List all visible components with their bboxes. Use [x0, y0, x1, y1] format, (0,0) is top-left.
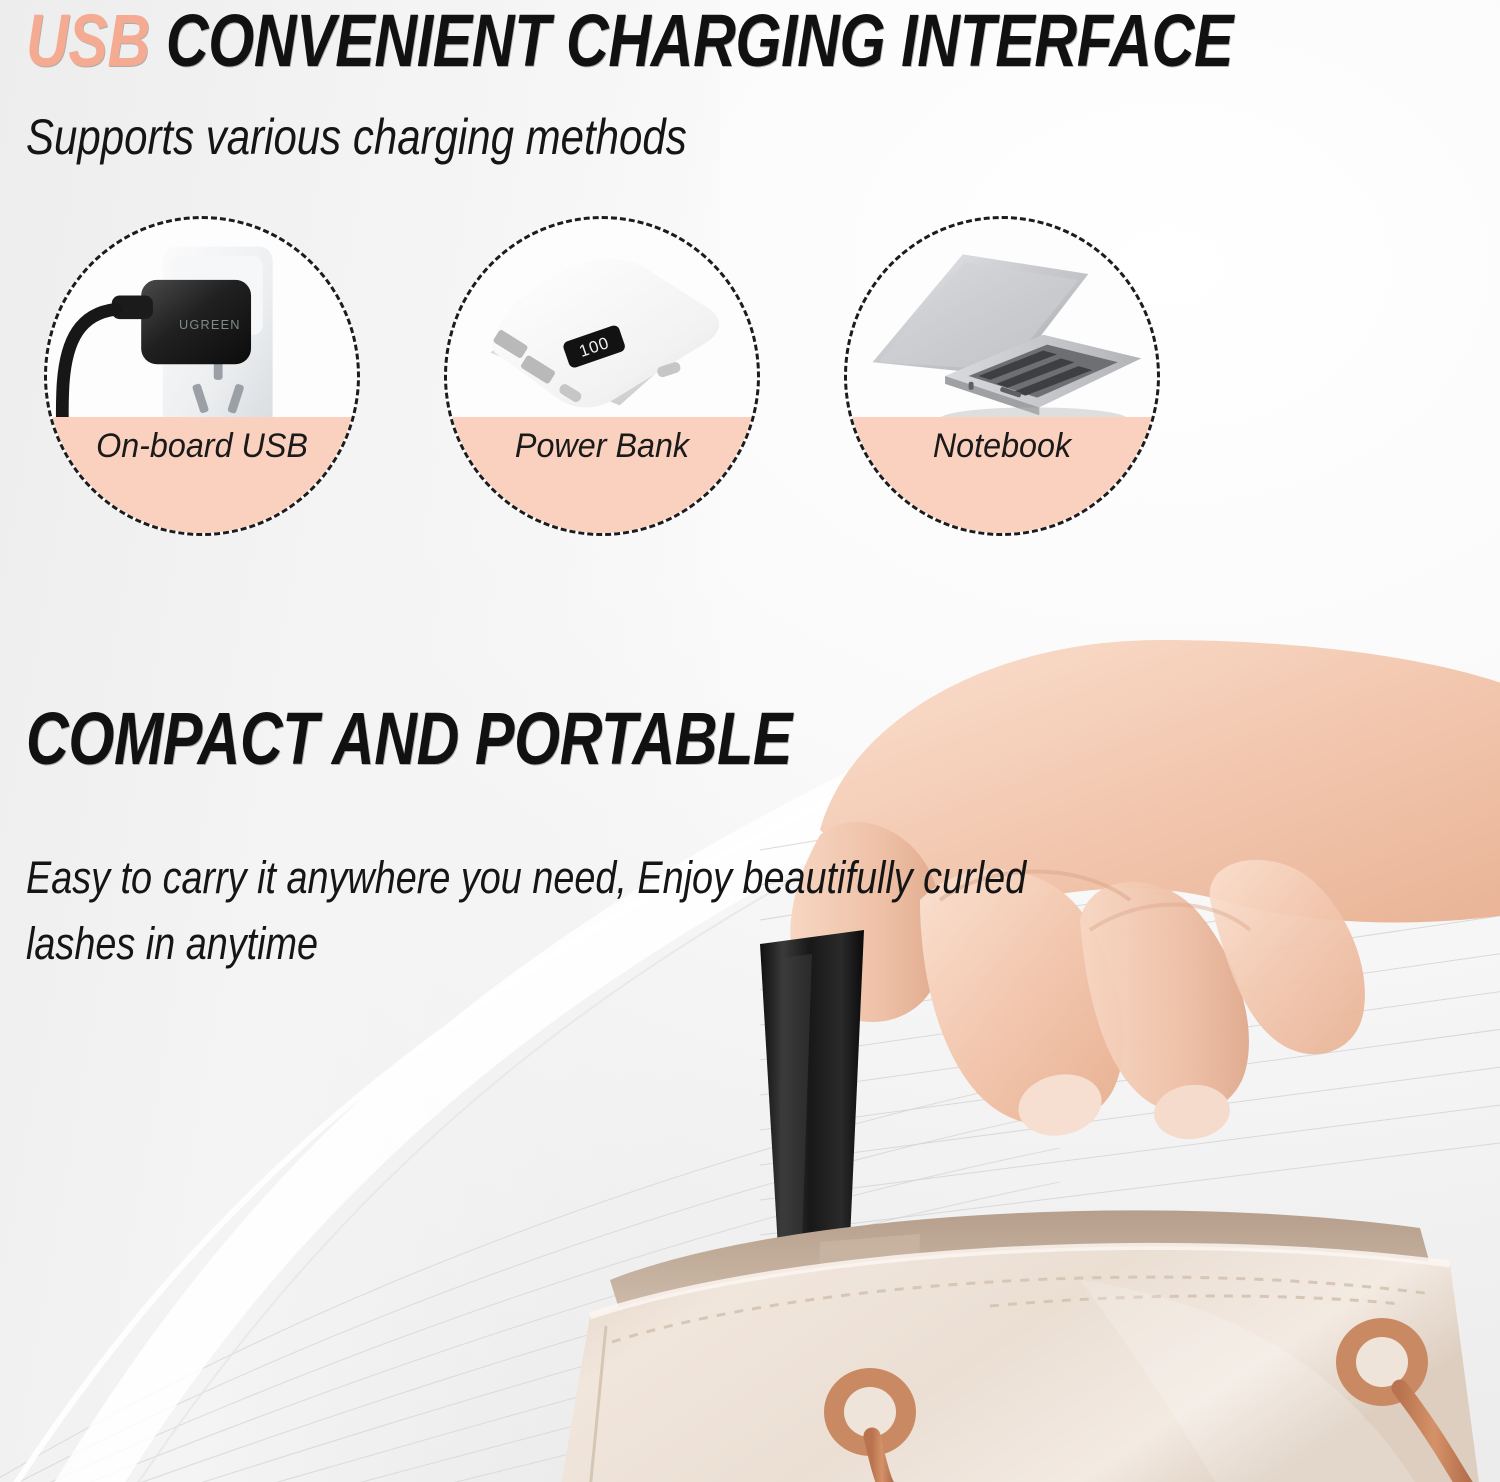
power-bank-icon: 100	[447, 219, 757, 439]
method-label: Notebook	[855, 417, 1150, 533]
charging-method-on-board-usb[interactable]: UGREEN On-board USB	[44, 216, 360, 536]
portable-title: COMPACT AND PORTABLE	[26, 700, 792, 778]
laptop-icon	[847, 219, 1157, 439]
charging-method-notebook[interactable]: Notebook	[844, 216, 1160, 536]
charging-method-power-bank[interactable]: 100 Power Bank	[444, 216, 760, 536]
portable-description: Easy to carry it anywhere you need, Enjo…	[26, 845, 1076, 977]
method-label: On-board USB	[55, 417, 350, 533]
method-label: Power Bank	[455, 417, 750, 533]
svg-text:UGREEN: UGREEN	[179, 317, 241, 332]
page-title: USB CONVENIENT CHARGING INTERFACE	[26, 2, 1233, 80]
infographic-page: USB CONVENIENT CHARGING INTERFACE Suppor…	[0, 0, 1500, 1482]
page-title-highlight: USB	[26, 0, 150, 82]
page-title-rest: CONVENIENT CHARGING INTERFACE	[166, 0, 1233, 82]
charging-subtitle: Supports various charging methods	[26, 108, 687, 166]
wall-charger-icon: UGREEN	[47, 219, 357, 439]
handbag	[560, 1210, 1480, 1482]
charging-methods-row: UGREEN On-board USB	[0, 216, 1200, 546]
